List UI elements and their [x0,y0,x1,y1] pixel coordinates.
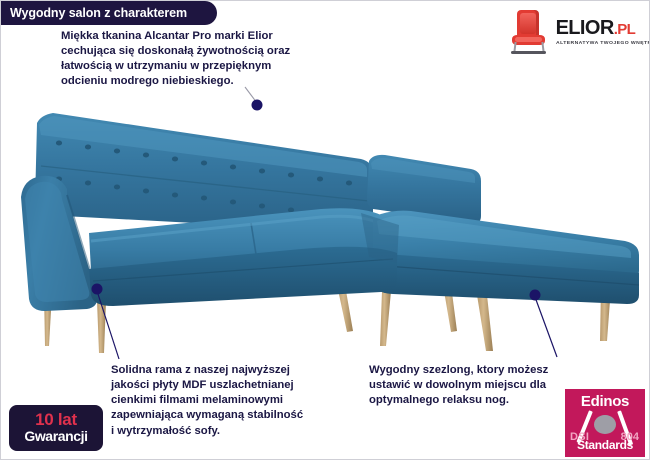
callout-frame-text: Solidna rama z naszej najwyższej jakości… [111,363,361,439]
page-title: Wygodny salon z charakterem [10,6,187,20]
warranty-label: Gwarancji [24,429,87,444]
brand-wordmark-tld: .PL [614,21,636,38]
brand-logo[interactable]: ELIOR.PL ALTERNATYWA TWOJEGO WNĘTRZA [506,9,643,57]
warranty-years: 10 lat [35,411,77,428]
red-armchair-icon [506,9,552,55]
brand-text: ELIOR.PL ALTERNATYWA TWOJEGO WNĘTRZA [556,9,643,45]
edinos-name: Edinos [565,393,645,410]
header-ribbon: Wygodny salon z charakterem [1,1,217,25]
callout-chaise-text: Wygodny szezlong, ktory możesz ustawić w… [369,363,564,408]
brand-tagline: ALTERNATYWA TWOJEGO WNĘTRZA [556,40,650,45]
edinos-standards-label: Standards [565,438,645,452]
brand-wordmark: ELIOR.PL [556,18,643,38]
brand-wordmark-main: ELIOR [556,17,614,39]
warranty-badge: 10 lat Gwarancji [9,405,103,451]
callout-fabric-text: Miękka tkanina Alcantar Pro marki Elior … [61,29,361,90]
edinos-standards-badge: Edinos DSI 804 Standards [565,389,645,457]
product-infographic: Wygodny salon z charakterem ELIOR.PL ALT… [0,0,650,460]
